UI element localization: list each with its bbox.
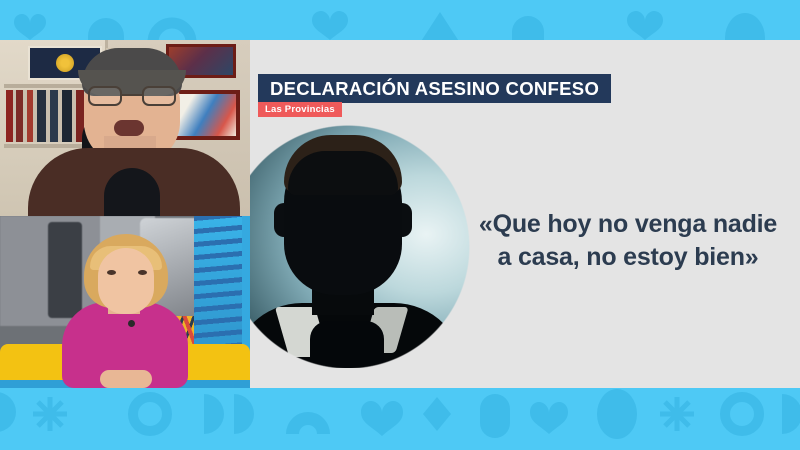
page-title: DECLARACIÓN ASESINO CONFESO [270,78,599,100]
silhouette-backdrop [250,125,470,368]
lapel-microphone-icon [128,320,135,327]
heart-shape [361,401,403,436]
half-circle-shape [204,394,224,434]
quote-text: «Que hoy no venga nadie a casa, no estoy… [478,208,778,274]
top-decorative-band [0,0,800,40]
silhouette-hair [284,135,402,193]
eyeglasses-icon [88,86,176,106]
video-panel-interviewee[interactable] [0,40,250,216]
silhouette-photo [250,125,470,368]
arch-shape [286,412,330,434]
source-badge: Las Provincias [258,102,342,117]
triangle-shape [418,12,462,40]
ring-shape [153,23,191,40]
main-stage: DECLARACIÓN ASESINO CONFESO Las Provinci… [0,40,800,388]
ring-shape [725,397,759,431]
oval-shape [725,13,765,40]
headline-bar: DECLARACIÓN ASESINO CONFESO [258,74,611,103]
heart-shape [312,11,348,40]
presenter-eyes [106,270,148,276]
interviewee-mouth [114,120,144,136]
oval-shape [597,389,637,439]
presenter-hands [100,370,152,388]
silhouette-chest [310,321,384,368]
half-circle-shape [782,394,800,434]
bottom-band-shapes [0,388,800,450]
asterisk-shape [33,397,67,431]
asterisk-shape [660,397,694,431]
source-badge-label: Las Provincias [265,104,335,115]
rounded-bar-shape [88,18,124,40]
heart-shape [14,14,46,40]
rounded-bar-shape [480,394,510,438]
video-panel-presenter[interactable] [0,216,250,388]
half-circle-shape [0,392,16,432]
top-band-shapes [0,0,800,40]
presenter-face [98,248,154,314]
rounded-bar-shape [512,16,544,40]
interviewee-tshirt [104,168,160,216]
bottom-decorative-band [0,388,800,450]
diamond-shape [423,397,451,431]
video-column [0,40,250,388]
ring-shape [133,397,167,431]
half-circle-shape [234,394,254,434]
heart-shape [627,11,663,40]
heart-shape [530,402,568,434]
